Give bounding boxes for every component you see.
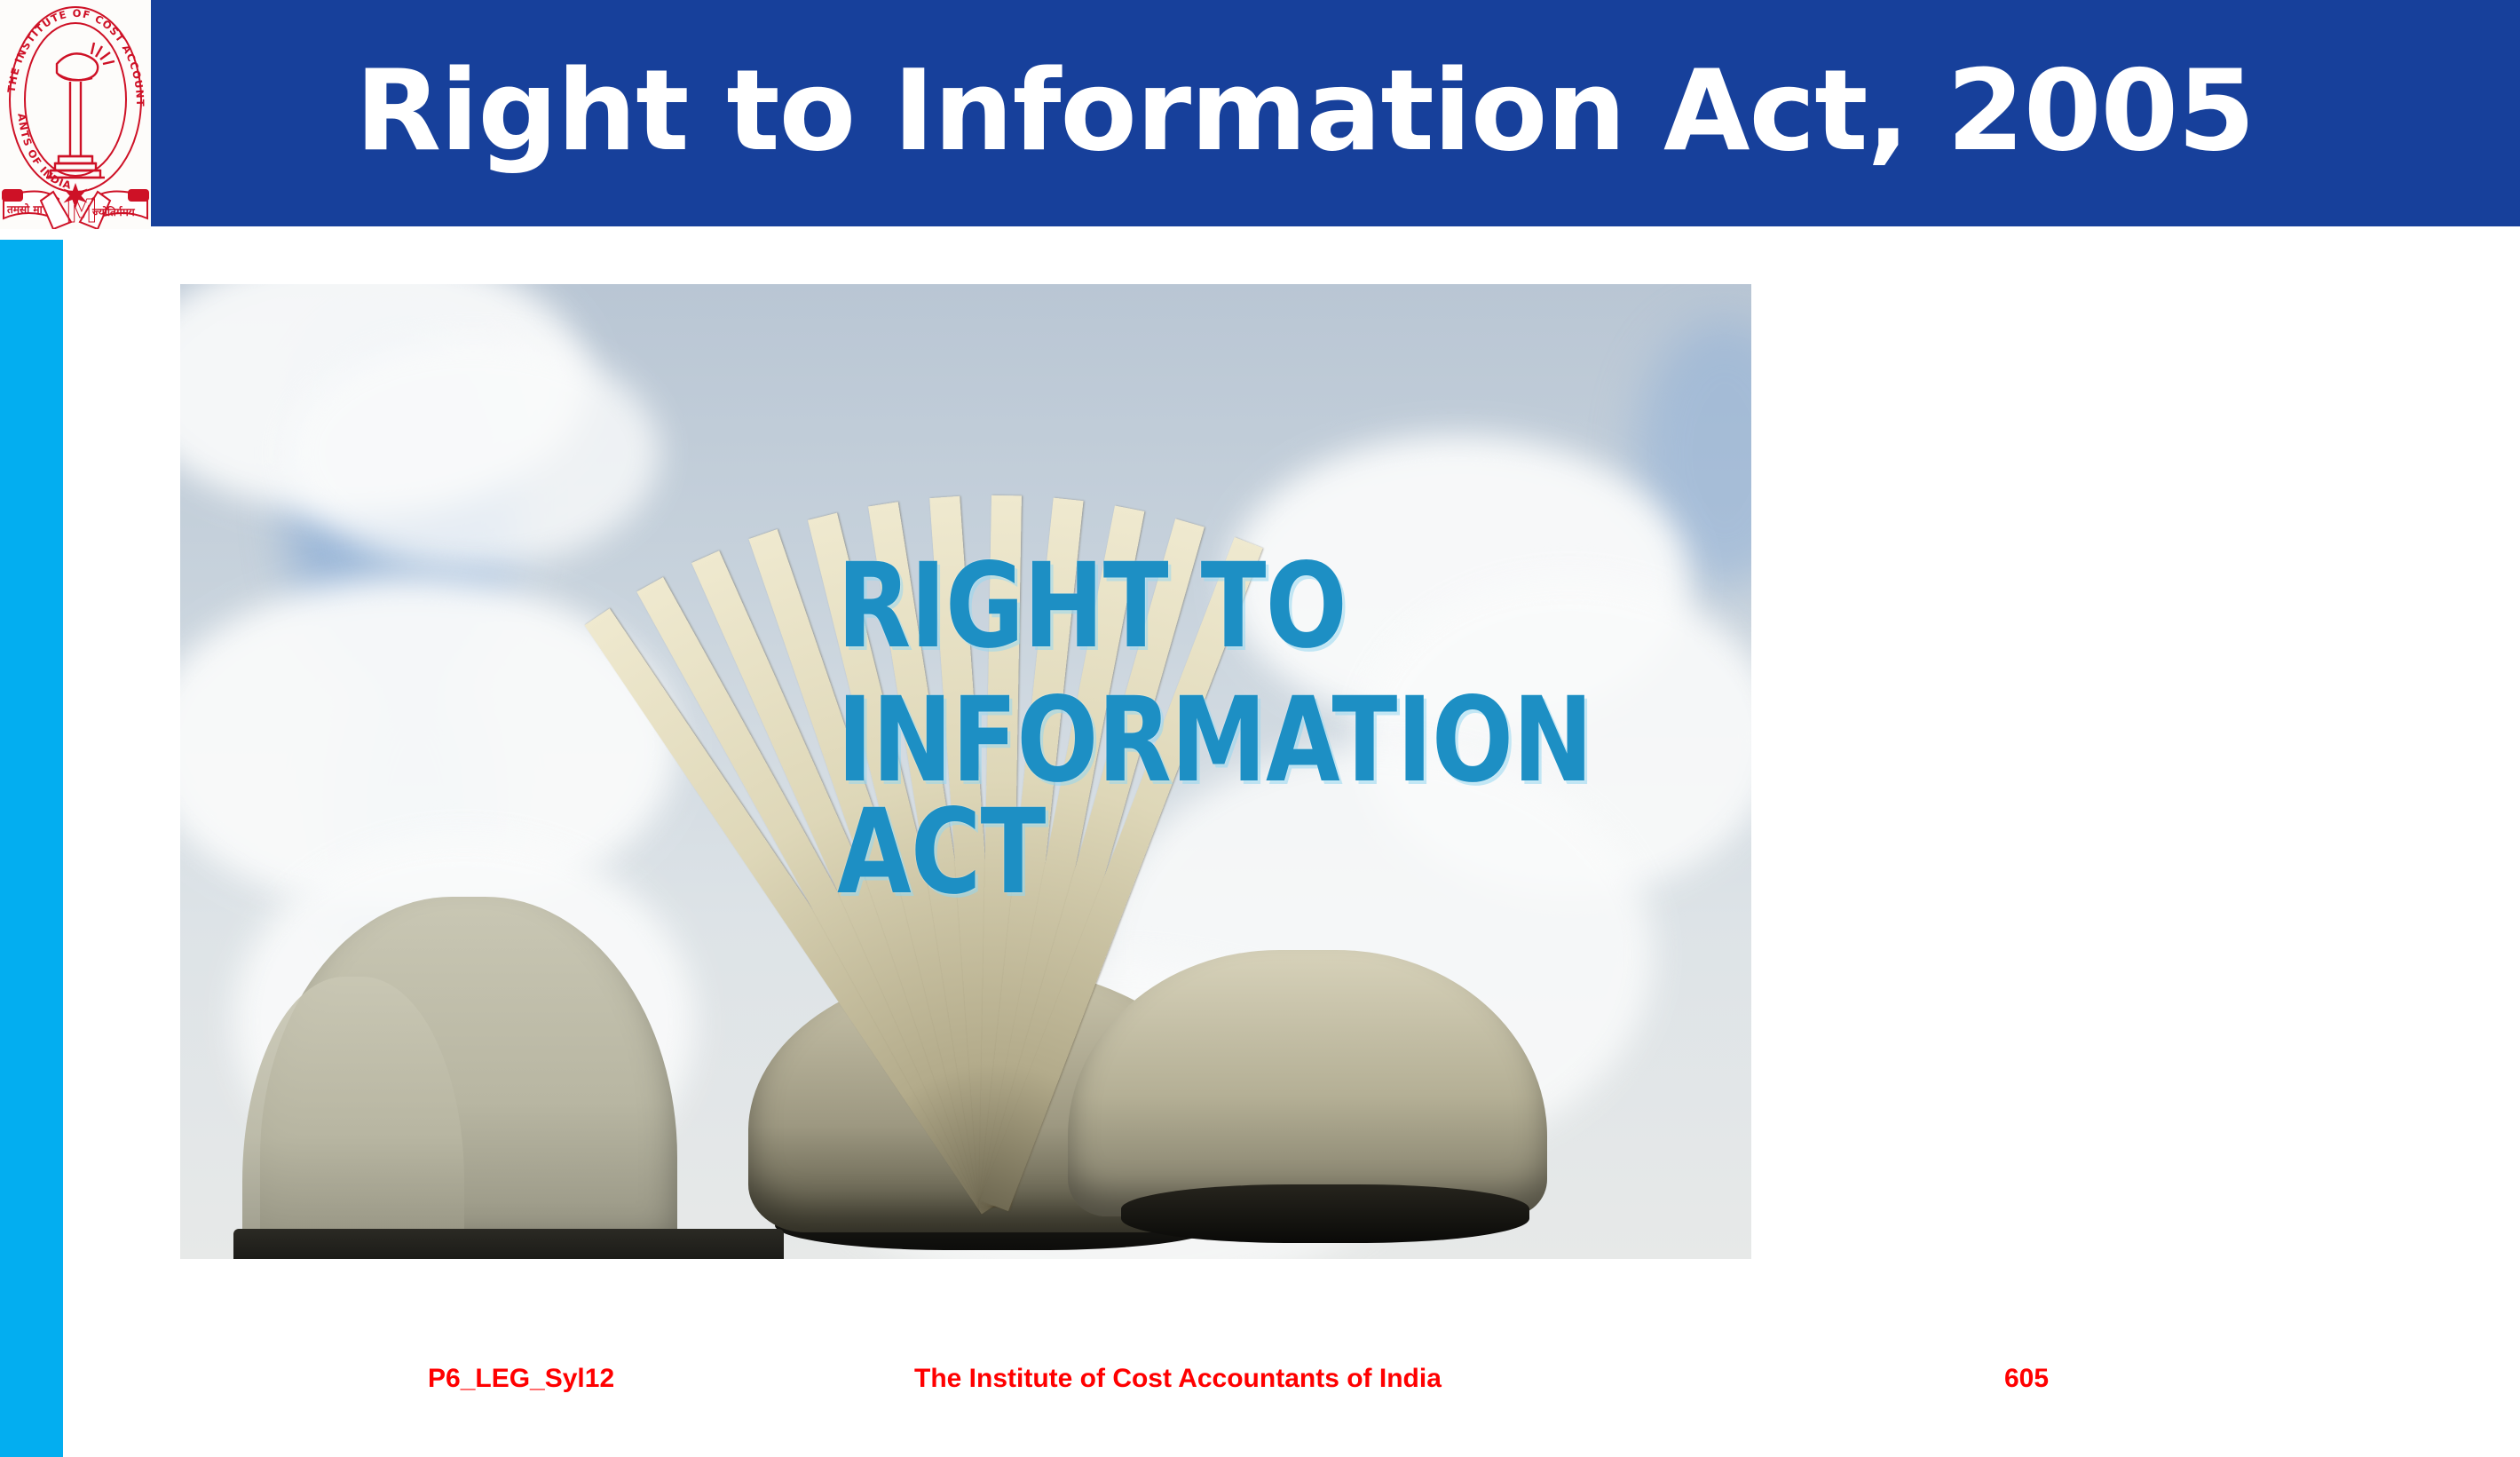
footer-organization: The Institute of Cost Accountants of Ind…	[914, 1364, 1442, 1394]
svg-text:M: M	[66, 194, 98, 229]
institute-logo: THE INSTITUTE OF COST ACCOUNT ANTS OF IN…	[0, 0, 151, 229]
overlay-line-1: RIGHT TO	[837, 550, 1565, 663]
footer-paper-code: P6_LEG_Syl12	[428, 1364, 614, 1394]
left-accent-strip	[0, 240, 63, 1457]
photo-overlay-text: RIGHT TO INFORMATION ACT	[837, 550, 1565, 909]
slide-photo: RIGHT TO INFORMATION ACT	[180, 284, 1751, 1259]
book-right-page	[1068, 897, 1618, 1252]
book-left-page	[233, 852, 802, 1259]
page-title: Right to Information Act, 2005	[151, 0, 2459, 226]
svg-text:तमसो मा: तमसो मा	[6, 203, 43, 216]
overlay-line-2: INFORMATION ACT	[837, 685, 1565, 909]
slide-footer: P6_LEG_Syl12 The Institute of Cost Accou…	[0, 1364, 2520, 1417]
svg-text:ज्योतिर्गमय: ज्योतिर्गमय	[91, 206, 136, 218]
footer-page-number: 605	[2004, 1364, 2049, 1394]
cloud	[287, 337, 660, 568]
